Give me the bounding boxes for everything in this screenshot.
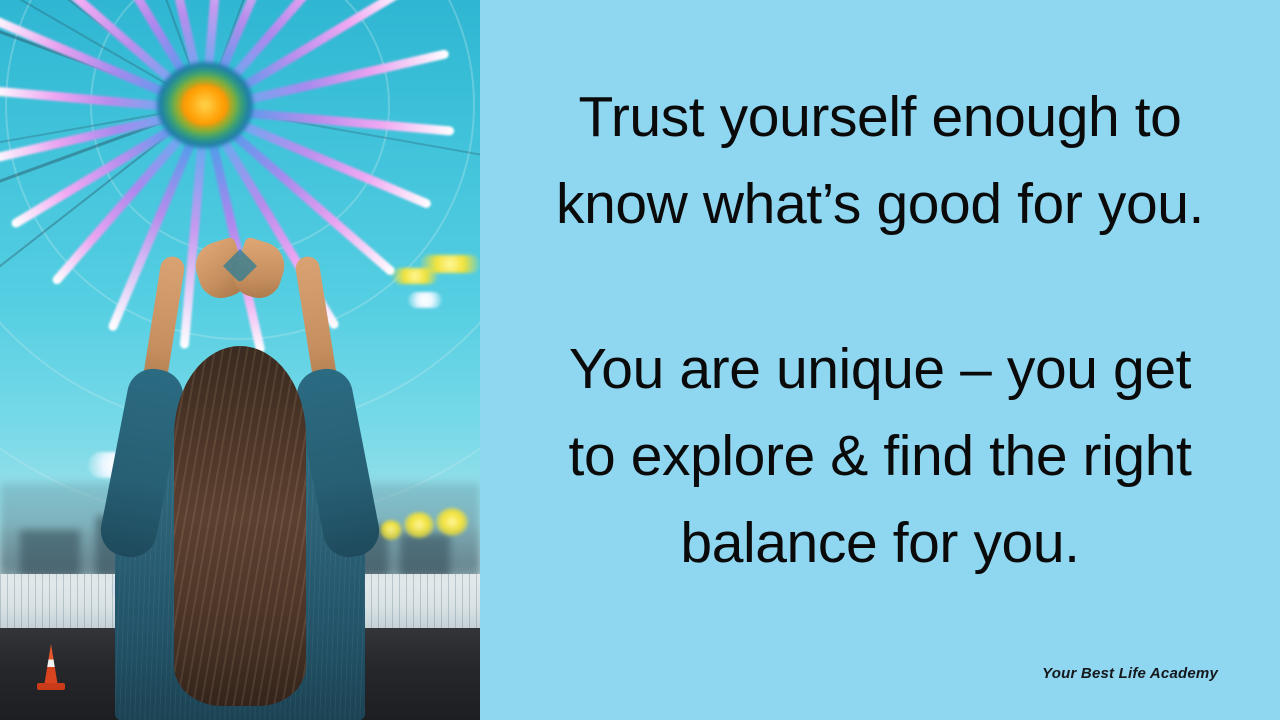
quote-line: to explore & find the right [480, 413, 1280, 500]
ferris-wheel-hub-core [182, 85, 228, 125]
traffic-cone-icon [38, 644, 64, 690]
quote-paragraph-2: You are unique – you get to explore & fi… [480, 326, 1280, 587]
quote-line: balance for you. [480, 500, 1280, 587]
hero-photo [0, 0, 480, 720]
brand-wordmark: Your Best Life Academy [1042, 665, 1218, 682]
quote-paragraph-1: Trust yourself enough to know what’s goo… [480, 74, 1280, 248]
quote-panel: Trust yourself enough to know what’s goo… [480, 0, 1280, 720]
left-arm [142, 255, 186, 387]
right-arm [294, 255, 338, 387]
long-hair [174, 346, 306, 706]
quote-line: You are unique – you get [480, 326, 1280, 413]
quote-slide: Trust yourself enough to know what’s goo… [0, 0, 1280, 720]
person-silhouette [90, 250, 390, 720]
quote-line: know what’s good for you. [480, 161, 1280, 248]
heart-hands-gesture [197, 242, 283, 300]
quote-line: Trust yourself enough to [480, 74, 1280, 161]
